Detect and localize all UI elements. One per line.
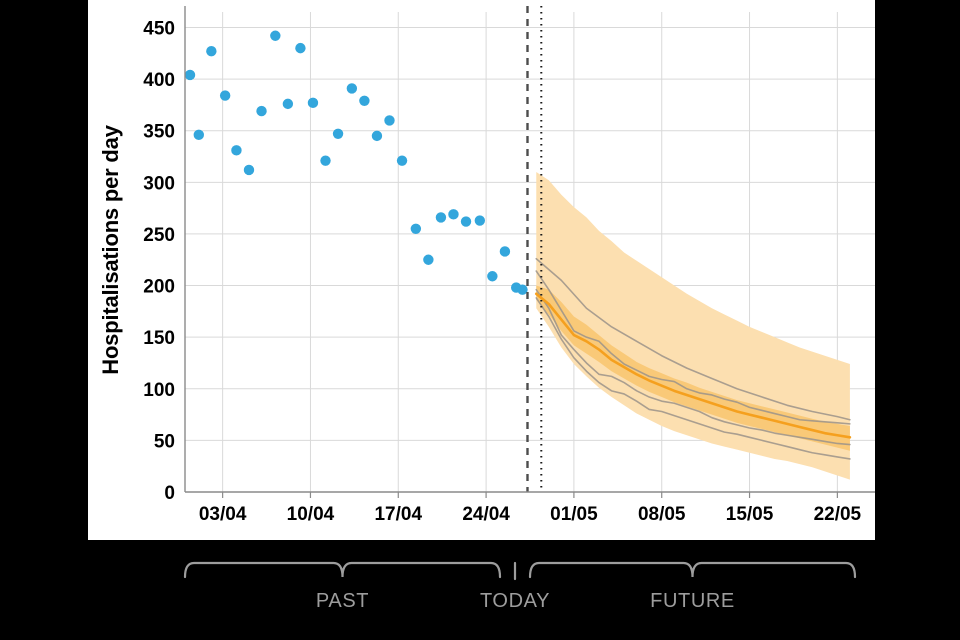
svg-text:10/04: 10/04 <box>287 504 335 525</box>
svg-text:100: 100 <box>143 380 175 401</box>
svg-text:03/04: 03/04 <box>199 504 247 525</box>
x-axis-tick-labels: 03/0410/0417/0424/0401/0508/0515/0522/05 <box>199 492 862 525</box>
svg-text:400: 400 <box>143 70 175 91</box>
timeline-annotation-region: PAST TODAY FUTURE <box>0 540 960 640</box>
hospitalisations-forecast-chart: 050100150200250300350400450 03/0410/0417… <box>88 0 875 540</box>
prediction-interval-bands <box>536 172 850 480</box>
svg-text:250: 250 <box>143 225 175 246</box>
chart-panel: 050100150200250300350400450 03/0410/0417… <box>88 0 875 540</box>
screenshot-root: 050100150200250300350400450 03/0410/0417… <box>0 0 960 640</box>
svg-text:17/04: 17/04 <box>374 504 422 525</box>
past-bracket <box>185 563 500 577</box>
svg-text:22/05: 22/05 <box>814 504 862 525</box>
svg-text:15/05: 15/05 <box>726 504 774 525</box>
svg-text:01/05: 01/05 <box>550 504 598 525</box>
svg-text:450: 450 <box>143 18 175 39</box>
svg-text:150: 150 <box>143 328 175 349</box>
svg-text:24/04: 24/04 <box>462 504 510 525</box>
svg-text:50: 50 <box>154 431 175 452</box>
svg-text:200: 200 <box>143 277 175 298</box>
svg-text:08/05: 08/05 <box>638 504 686 525</box>
future-label: FUTURE <box>213 590 960 613</box>
y-axis-title: Hospitalisations per day <box>88 0 134 500</box>
svg-text:0: 0 <box>164 483 175 504</box>
y-axis-tick-labels: 050100150200250300350400450 <box>143 18 175 504</box>
observed-data-points <box>185 31 528 295</box>
svg-text:350: 350 <box>143 122 175 143</box>
svg-text:300: 300 <box>143 173 175 194</box>
y-axis-title-text: Hospitalisations per day <box>98 125 124 375</box>
future-bracket <box>530 563 855 577</box>
